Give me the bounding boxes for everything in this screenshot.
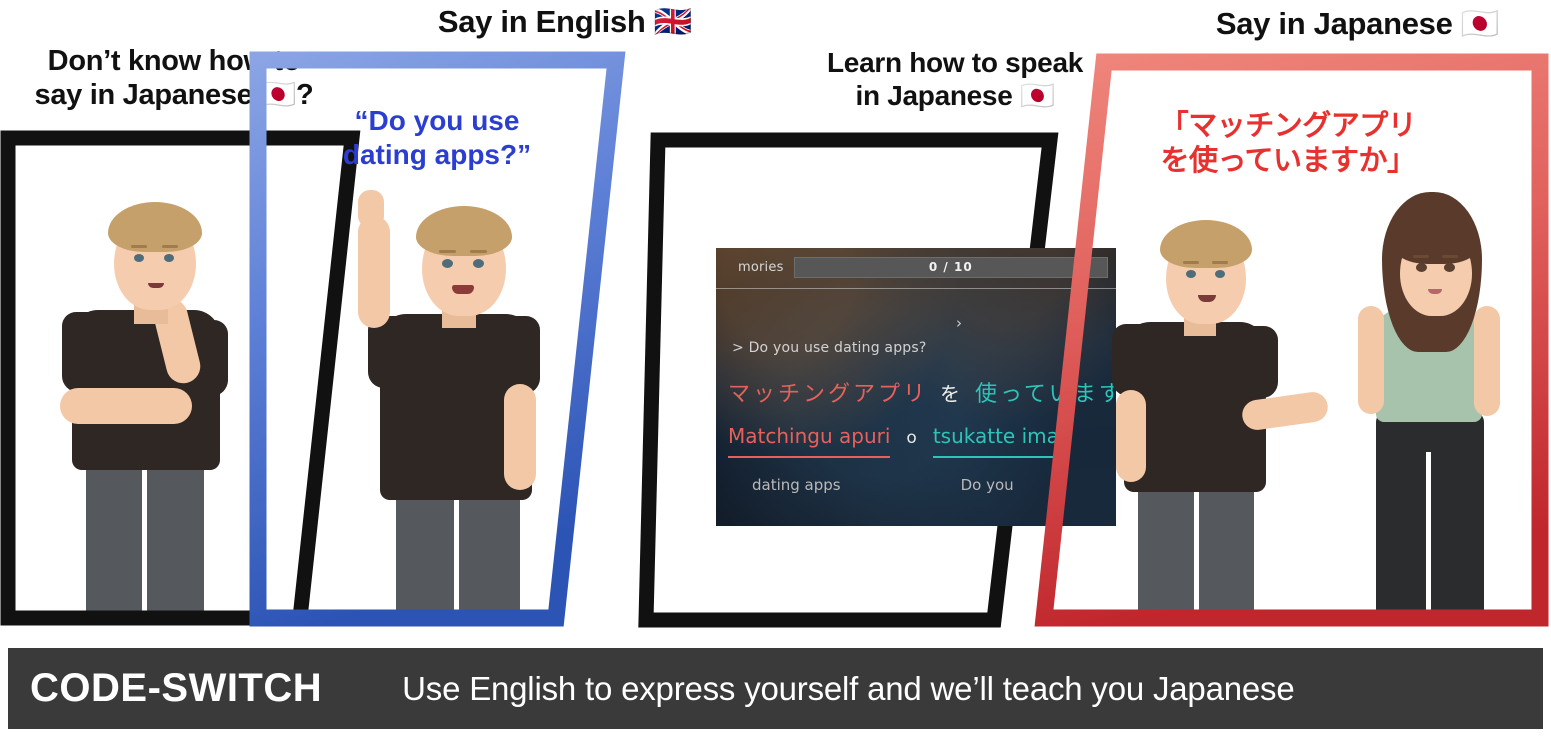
jp-segment-2: を bbox=[940, 378, 963, 407]
banner-tagline: Use English to express yourself and we’l… bbox=[402, 670, 1294, 708]
panel-4-quote: 「マッチングアプリ を使っていますか」 bbox=[1093, 108, 1483, 179]
romaji-segment-1: Matchingu apuri bbox=[728, 424, 890, 458]
infographic-canvas: Don’t know how to say in Japanese 🇯🇵? Sa… bbox=[0, 0, 1551, 737]
gloss-segment-1: dating apps bbox=[752, 476, 841, 494]
panel-2-quote: “Do you use dating apps?” bbox=[292, 104, 582, 172]
brand-name: CODE-SWITCH bbox=[30, 666, 322, 711]
memories-progress-value: 0 / 10 bbox=[929, 260, 973, 274]
game-prompt-line: > Do you use dating apps? bbox=[732, 340, 927, 356]
panel-2-header: Say in English 🇬🇧 bbox=[390, 4, 740, 41]
bottom-banner: CODE-SWITCH Use English to express yours… bbox=[8, 648, 1543, 729]
romaji-segment-2: o bbox=[906, 428, 916, 448]
jp-segment-1: マッチングアプリ bbox=[728, 376, 928, 408]
gloss-segment-2: Do you bbox=[961, 476, 1014, 494]
game-caret-icon: › bbox=[956, 314, 962, 332]
panel-4-header: Say in Japanese 🇯🇵 bbox=[1170, 6, 1545, 43]
memories-label: mories bbox=[738, 260, 784, 275]
